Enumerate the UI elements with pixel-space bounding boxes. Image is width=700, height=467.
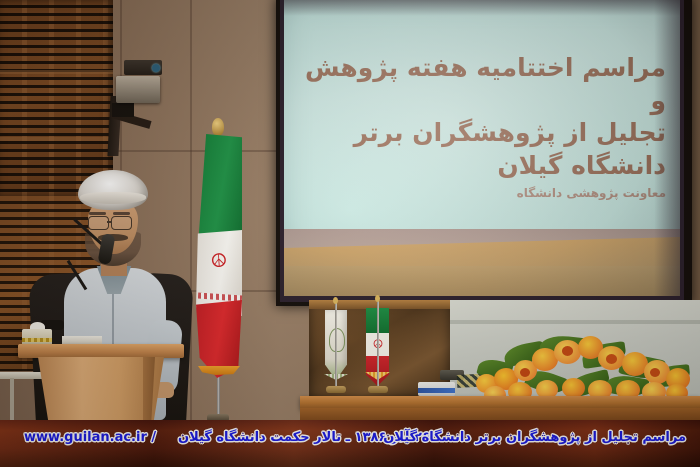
university-desk-flag-base: [326, 386, 346, 393]
rose-bloom: [562, 378, 585, 398]
iran-desk-flag-base: [368, 386, 388, 393]
iran-desk-flag-pole: [377, 300, 379, 386]
iran-national-flag: ☮: [196, 134, 242, 376]
photo-screenshot: مراسم اختتامیه هفته پژوهش و تجلیل از پژو…: [0, 0, 700, 467]
university-emblem-icon: [329, 328, 345, 352]
website-url-text: www.guilan.ac.ir: [24, 430, 147, 445]
camera-lens-icon: [152, 64, 160, 72]
rose-center: [606, 354, 617, 364]
slide-line-2: و: [284, 85, 666, 118]
slat-row-divider: [0, 70, 113, 74]
camera-mount-plate: [112, 103, 134, 117]
eyebrow-right: [113, 212, 130, 215]
flag-green-stripe: [196, 134, 242, 244]
tissue-box-band: [22, 338, 52, 342]
iran-desk-flag-finial-icon: [375, 295, 380, 302]
website-url[interactable]: www.guilan.ac.ir /: [24, 430, 156, 445]
podium-surface: [18, 344, 184, 358]
slat-row-divider: [0, 137, 113, 141]
turban-wrap: [80, 192, 146, 204]
slide-line-1: مراسم اختتامیه هفته پژوهش: [284, 52, 666, 85]
flag-gold-hem: [198, 366, 240, 375]
screen-top-shade: [284, 0, 680, 16]
slide-subtitle: معاونت پژوهشی دانشگاه: [284, 186, 666, 200]
event-title-caption: مراسم تجلیل از پژوهشگران برتر دانشگاه گی…: [383, 430, 686, 445]
wall-camera-icon: [116, 76, 160, 103]
caption-bar: www.guilan.ac.ir / ۲۶ آذر ۱۳۸۶ ـ تالار ح…: [0, 420, 700, 467]
glasses-bridge: [107, 221, 112, 223]
glasses-lens-right: [111, 216, 132, 230]
wall-seam: [190, 0, 192, 420]
lower-wall-stripe: [450, 320, 700, 324]
iran-emblem-icon: ☮: [208, 251, 229, 272]
rose-center: [562, 346, 573, 356]
university-desk-flag-finial-icon: [333, 297, 338, 304]
slide-line-3: تجلیل از پژوهشگران برتر دانشگاه گیلان: [284, 117, 666, 182]
caption-separator: /: [151, 430, 156, 445]
projection-screen: مراسم اختتامیه هفته پژوهش و تجلیل از پژو…: [284, 0, 680, 296]
orange-rose-bouquet: [470, 330, 695, 400]
desk-tissue-box-band: [418, 388, 455, 393]
acoustic-slat-wall-panel: [0, 0, 113, 196]
slide-title-block: مراسم اختتامیه هفته پژوهش و تجلیل از پژو…: [284, 52, 666, 182]
university-desk-flag-pole: [335, 302, 337, 386]
screen-right-shadow: [654, 0, 680, 296]
side-table-leg: [10, 378, 14, 420]
rose-center: [520, 368, 530, 377]
slide-band-tan-lower: [284, 266, 680, 296]
rose-center: [650, 368, 660, 377]
turban: [78, 170, 148, 210]
glasses-lens-left: [88, 216, 109, 230]
eyebrow-left: [89, 212, 106, 215]
